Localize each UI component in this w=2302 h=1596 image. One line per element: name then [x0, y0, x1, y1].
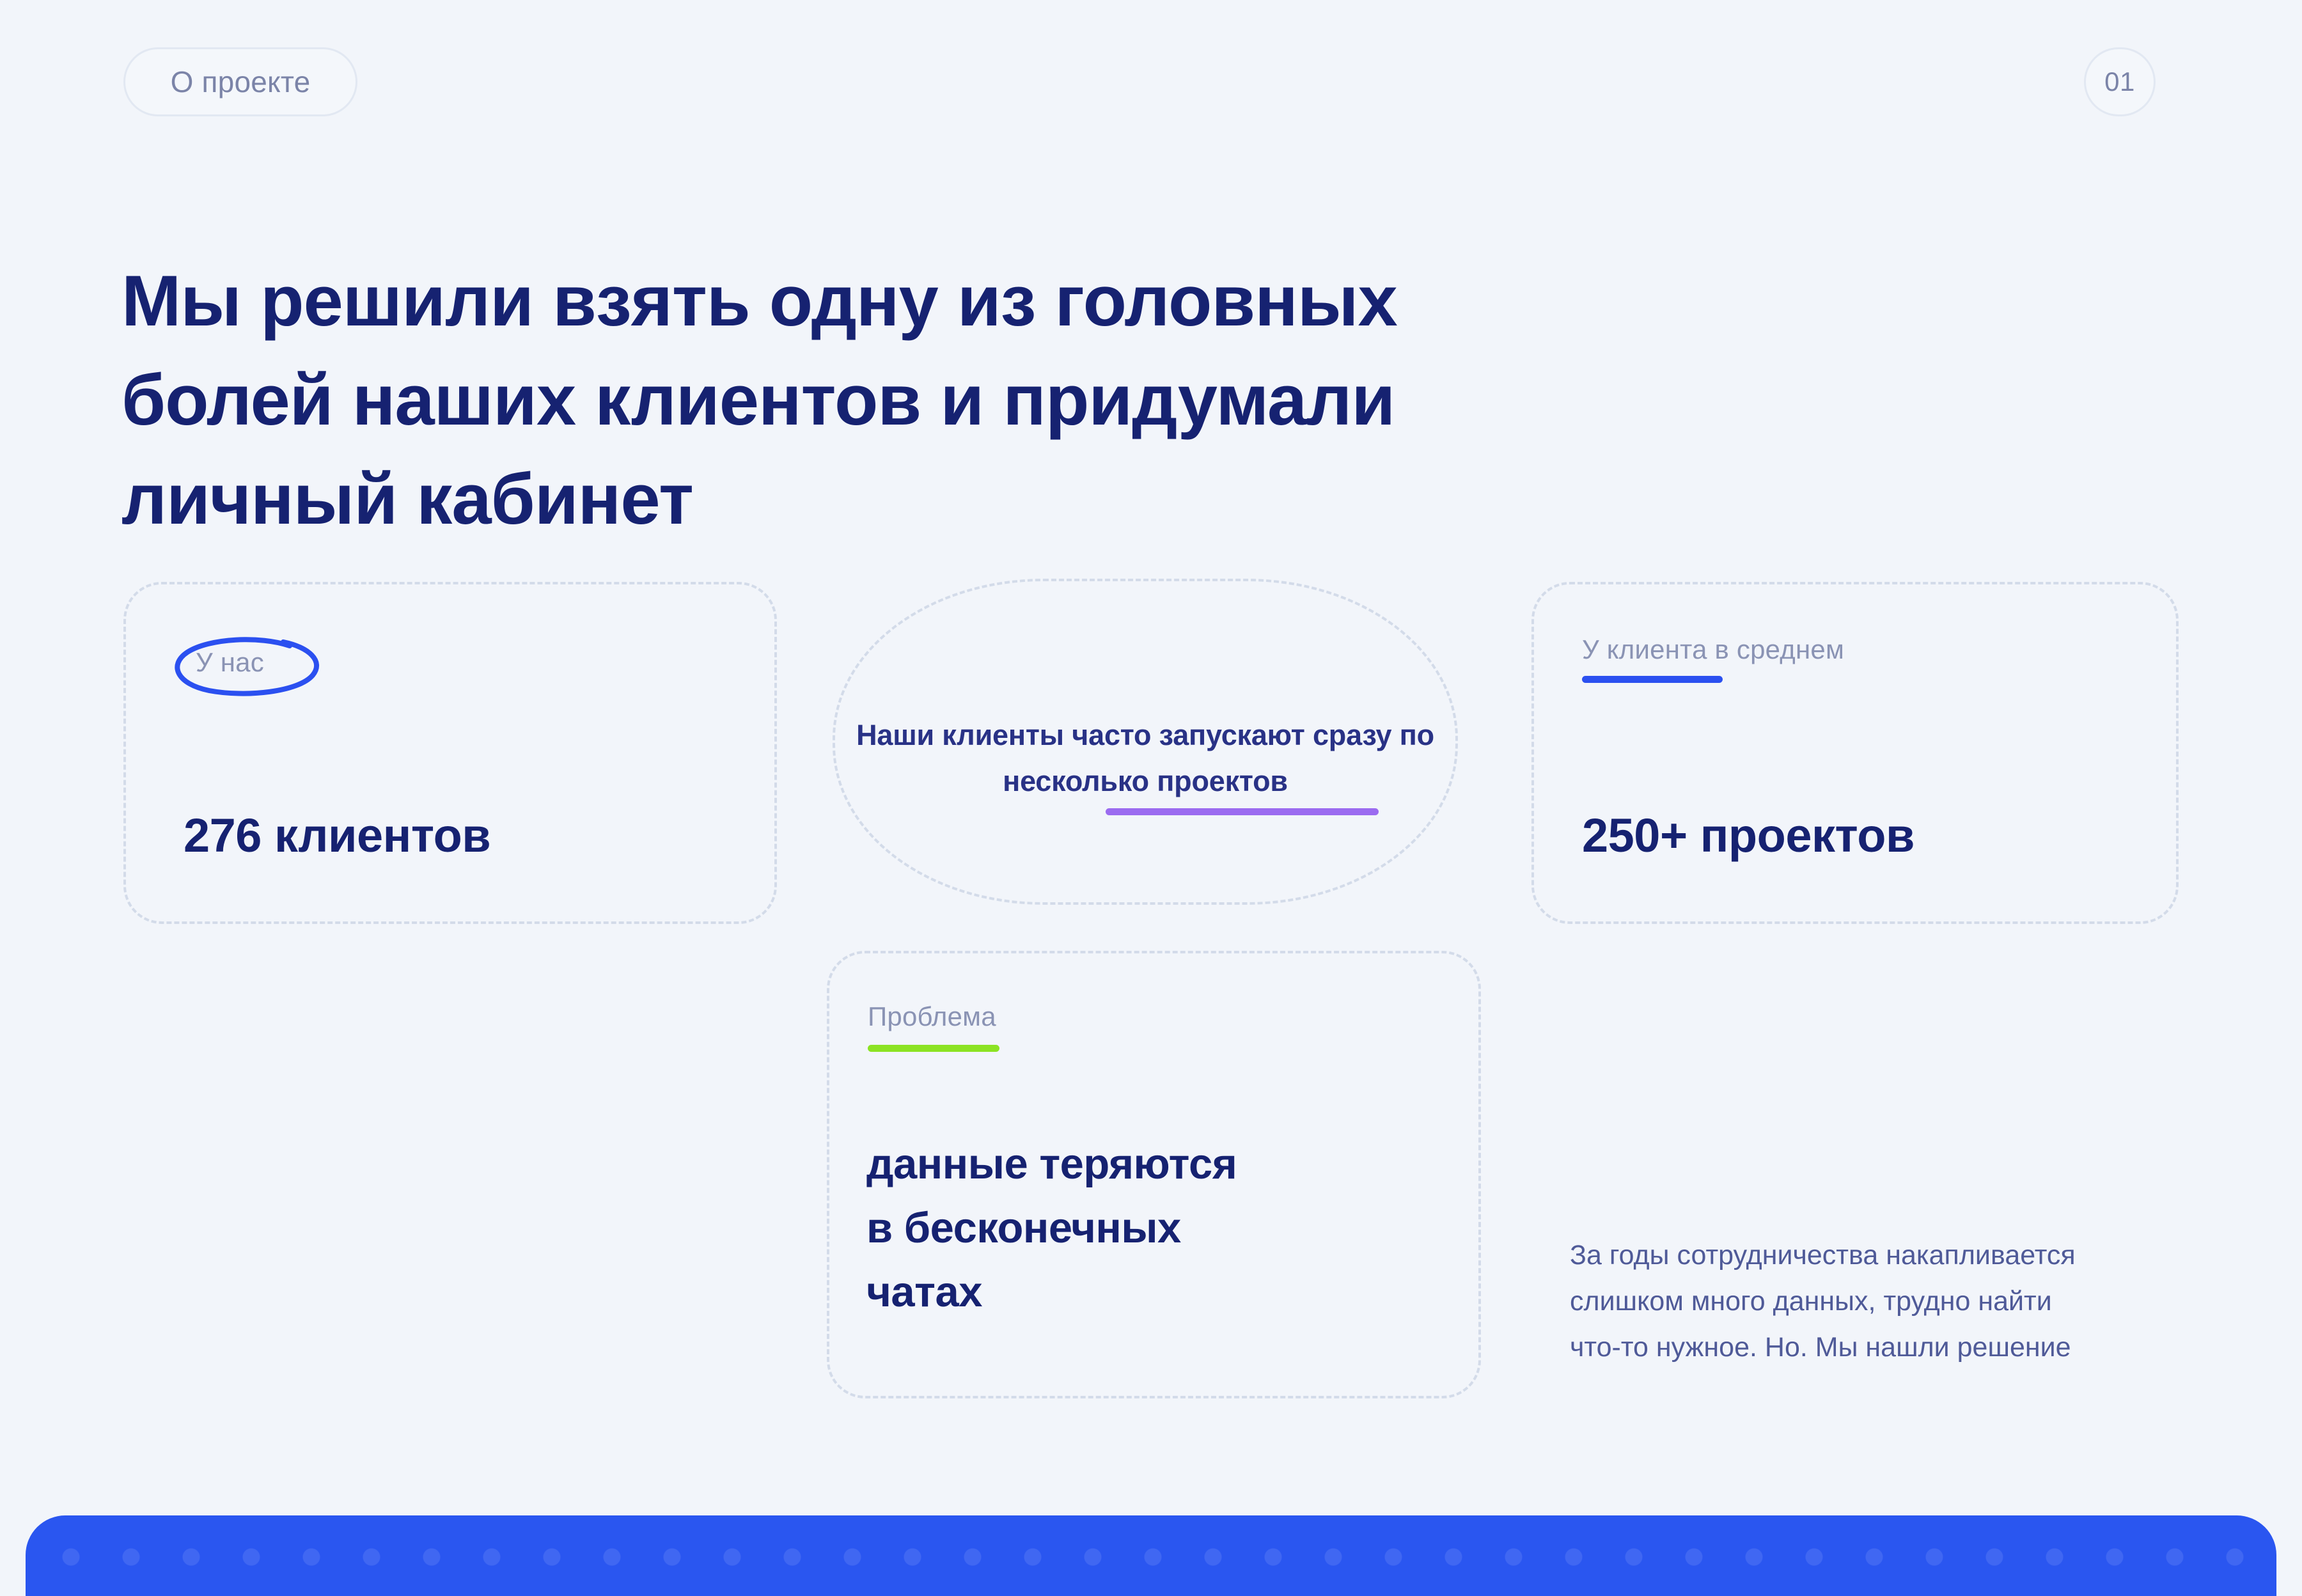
- section-pill-label: О проекте: [171, 65, 311, 99]
- circled-label-group: У нас: [164, 629, 336, 698]
- insight-oval-card: Наши клиенты часто запускают сразу по не…: [833, 579, 1458, 905]
- page-number-badge[interactable]: 01: [2084, 47, 2156, 116]
- stat-card-projects-underline: [1582, 676, 1723, 683]
- page-title: Мы решили взять одну из головных болей н…: [121, 251, 1624, 549]
- insight-oval-line-1: Наши клиенты часто запускают: [856, 719, 1305, 751]
- problem-card-underline: [868, 1045, 999, 1052]
- explanation-paragraph-line-2: слишком много данных, трудно найти: [1570, 1278, 2216, 1324]
- stat-card-projects-value: 250+ проектов: [1582, 808, 1914, 863]
- page-title-line-2: болей наших клиентов и придумали: [121, 350, 1624, 450]
- bottom-accent-bar: [26, 1515, 2276, 1596]
- stat-card-projects: У клиента в среднем 250+ проектов: [1531, 582, 2179, 924]
- page-number-label: 01: [2104, 66, 2135, 97]
- slide-root: О проекте 01 Мы решили взять одну из гол…: [0, 0, 2302, 1596]
- stat-card-clients-value: 276 клиентов: [184, 808, 490, 863]
- problem-card-label: Проблема: [868, 1001, 996, 1032]
- stat-card-clients-label: У нас: [196, 647, 264, 678]
- section-pill-about[interactable]: О проекте: [123, 47, 357, 116]
- problem-card-title-line-3: чатах: [866, 1260, 1442, 1324]
- dot-pattern-texture: [26, 1515, 2276, 1596]
- problem-card-title-line-1: данные теряются: [866, 1132, 1442, 1196]
- page-title-line-3: личный кабинет: [121, 450, 1624, 549]
- stat-card-projects-label: У клиента в среднем: [1582, 634, 1844, 665]
- problem-card: Проблема данные теряются в бесконечных ч…: [827, 951, 1481, 1398]
- problem-card-title-line-2: в бесконечных: [866, 1196, 1442, 1260]
- explanation-paragraph: За годы сотрудничества накапливается сли…: [1570, 1232, 2216, 1370]
- page-title-line-1: Мы решили взять одну из головных: [121, 251, 1624, 350]
- explanation-paragraph-line-1: За годы сотрудничества накапливается: [1570, 1232, 2216, 1278]
- insight-oval-underline: [1106, 808, 1379, 815]
- problem-card-title: данные теряются в бесконечных чатах: [866, 1132, 1442, 1324]
- insight-oval-text: Наши клиенты часто запускают сразу по не…: [835, 712, 1455, 804]
- explanation-paragraph-line-3: что-то нужное. Но. Мы нашли решение: [1570, 1324, 2216, 1370]
- stat-card-clients: У нас 276 клиентов: [123, 582, 777, 924]
